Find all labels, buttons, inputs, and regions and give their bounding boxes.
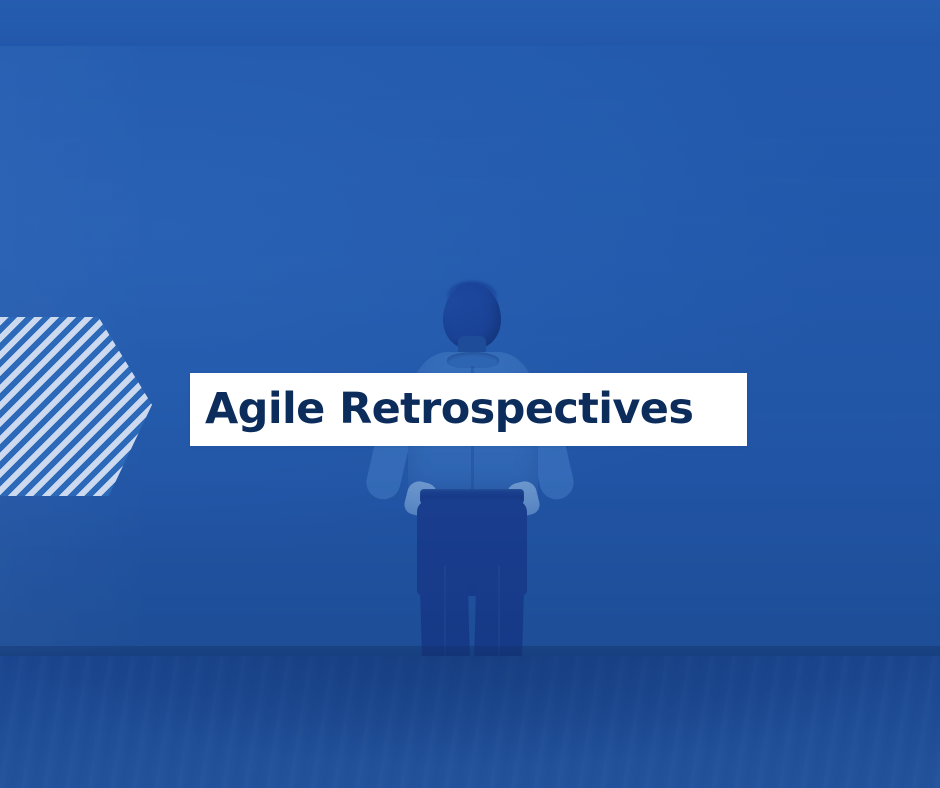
figure-hair <box>447 281 497 311</box>
floor-surface <box>0 656 940 788</box>
title-slide: Agile Retrospectives <box>0 0 940 788</box>
page-title: Agile Retrospectives <box>205 388 693 431</box>
title-bar: Agile Retrospectives <box>190 373 747 446</box>
